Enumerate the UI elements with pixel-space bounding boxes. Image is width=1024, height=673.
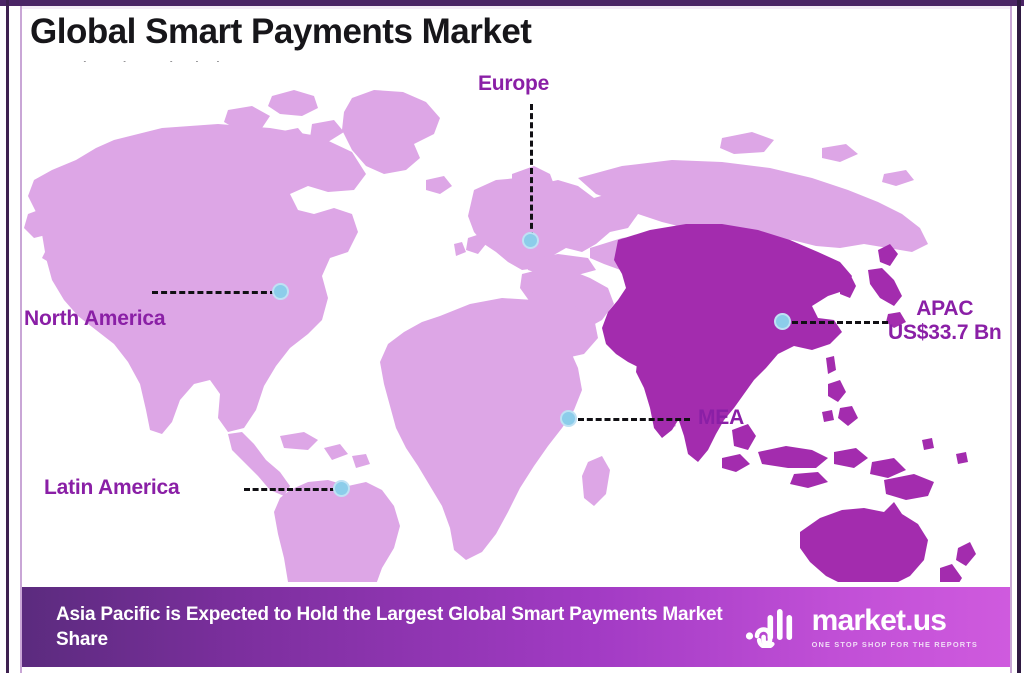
market-us-tagline: ONE STOP SHOP FOR THE REPORTS bbox=[812, 640, 978, 649]
leader-line-apac bbox=[792, 321, 888, 324]
map-dot-latin-america[interactable] bbox=[333, 480, 350, 497]
frame-top-stripe bbox=[22, 6, 1010, 9]
world-map: Europe North America Latin America MEA A… bbox=[22, 62, 1010, 582]
region-label-europe: Europe bbox=[478, 72, 549, 96]
map-dot-apac[interactable] bbox=[774, 313, 791, 330]
market-us-wordmark: market.us bbox=[812, 606, 947, 636]
region-label-apac-name: APAC bbox=[888, 297, 1002, 321]
leader-line-latin-america bbox=[244, 488, 336, 491]
frame-left-border bbox=[6, 0, 9, 673]
market-us-logo[interactable]: market.us ONE STOP SHOP FOR THE REPORTS bbox=[745, 606, 992, 649]
region-label-latin-america: Latin America bbox=[44, 476, 180, 500]
leader-line-mea bbox=[578, 418, 690, 421]
region-label-mea: MEA bbox=[698, 406, 744, 430]
bottom-banner: Asia Pacific is Expected to Hold the Lar… bbox=[22, 587, 1010, 667]
region-label-north-america: North America bbox=[24, 307, 165, 331]
map-dot-mea[interactable] bbox=[560, 410, 577, 427]
frame-right-inner-line bbox=[1010, 6, 1012, 673]
market-us-logo-mark-icon bbox=[745, 606, 803, 648]
leader-line-europe bbox=[530, 104, 533, 238]
banner-headline: Asia Pacific is Expected to Hold the Lar… bbox=[56, 602, 745, 652]
region-label-apac-value: US$33.7 Bn bbox=[888, 321, 1002, 345]
page-title: Global Smart Payments Market bbox=[30, 14, 790, 51]
frame-right-border bbox=[1017, 0, 1021, 673]
map-dot-europe[interactable] bbox=[522, 232, 539, 249]
region-label-apac: APAC US$33.7 Bn bbox=[888, 297, 1002, 344]
market-us-logo-text: market.us ONE STOP SHOP FOR THE REPORTS bbox=[812, 606, 978, 649]
map-dot-north-america[interactable] bbox=[272, 283, 289, 300]
infographic-card: Global Smart Payments Market Regional An… bbox=[0, 0, 1024, 673]
leader-line-north-america bbox=[152, 291, 276, 294]
